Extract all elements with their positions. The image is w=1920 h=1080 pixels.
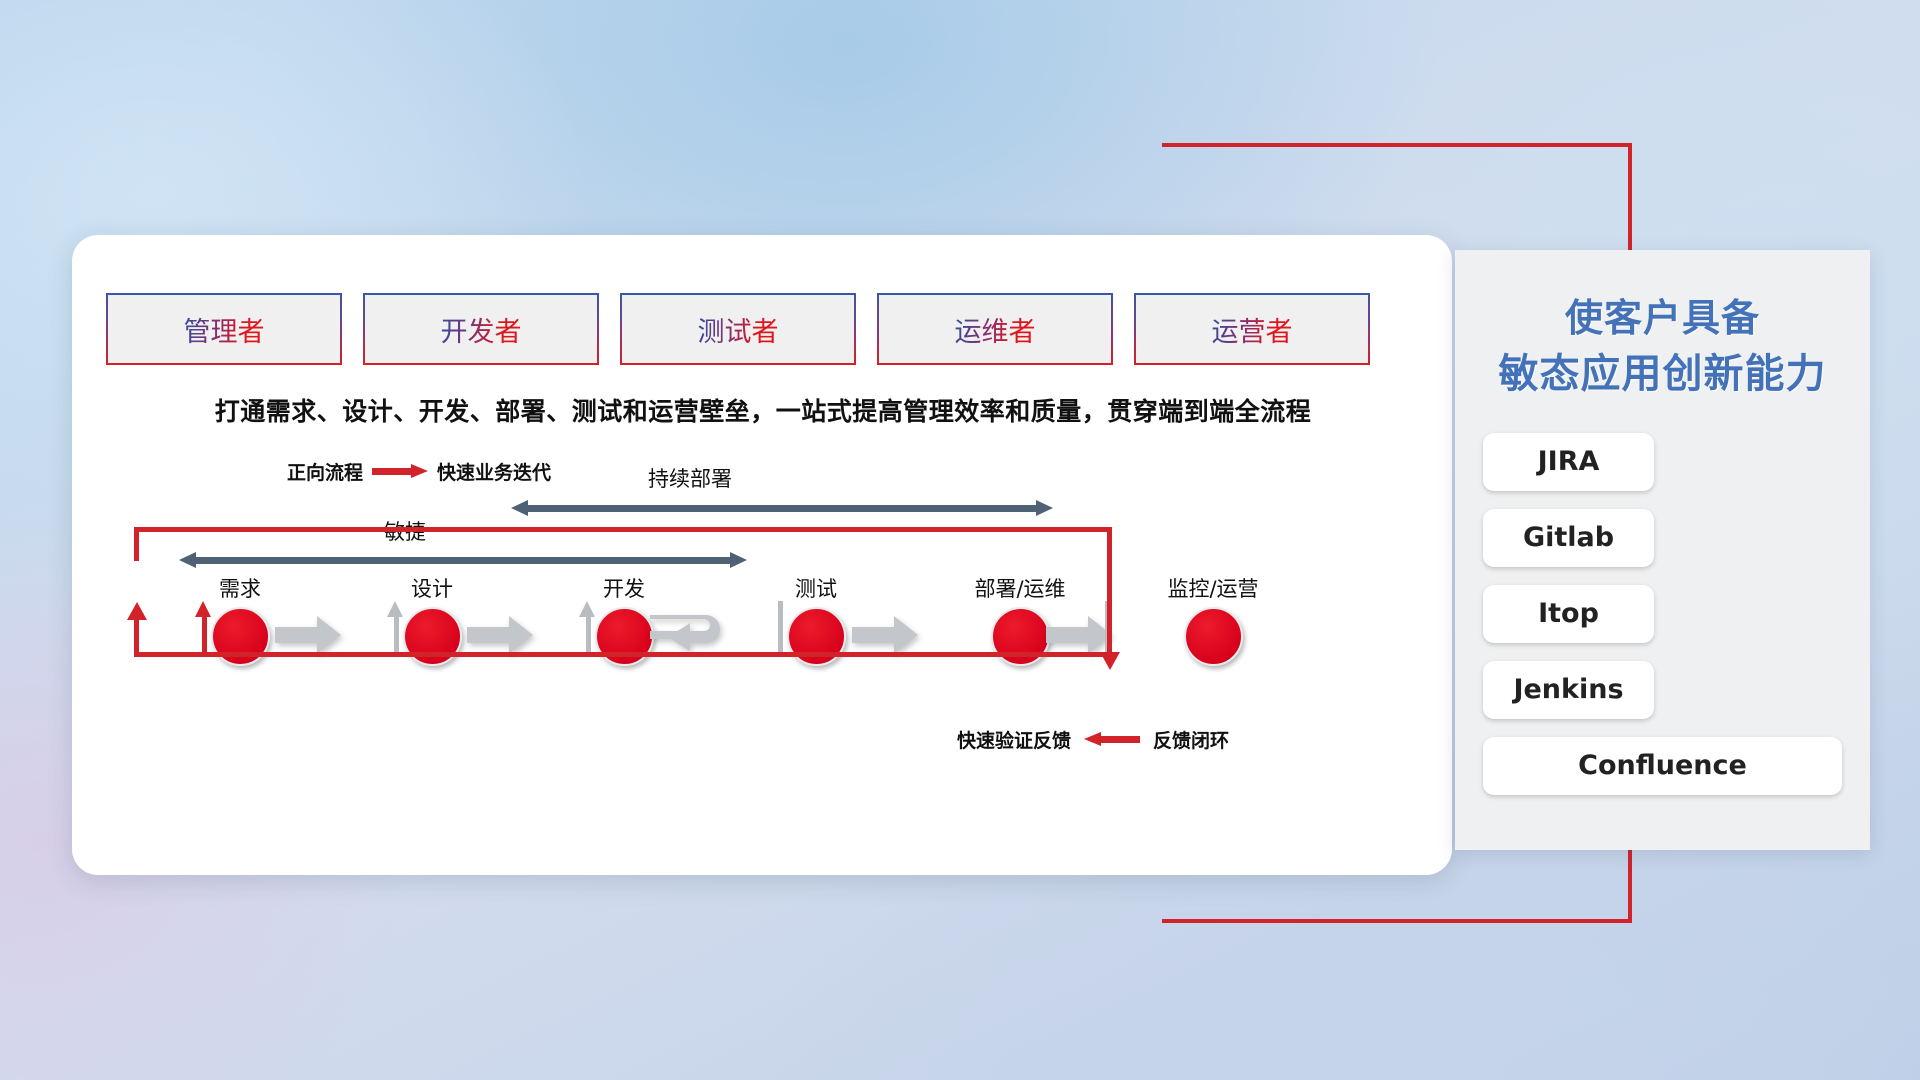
legend-feedback-loop: 快速验证反馈 反馈闭环 xyxy=(957,726,1229,753)
role-label: 开发者 xyxy=(441,310,522,349)
stage-monitor-operate[interactable]: 监控/运营 xyxy=(1133,573,1293,666)
tool-chip-jenkins[interactable]: Jenkins xyxy=(1483,661,1654,719)
feedback-loop-arrowhead-down-icon xyxy=(1100,652,1120,670)
legend-forward-flow: 正向流程 快速业务迭代 xyxy=(287,458,551,485)
arrow-requirement-to-design-icon xyxy=(275,616,341,654)
feedback-loop-left-top-segment xyxy=(134,527,139,561)
stage-node-dot xyxy=(991,607,1050,666)
role-label: 测试者 xyxy=(698,310,779,349)
riser-requirement xyxy=(202,617,207,657)
panel-title-line2: 敏态应用创新能力 xyxy=(1483,346,1842,403)
capability-panel: 使客户具备 敏态应用创新能力 JIRA Gitlab Itop Jenkins … xyxy=(1455,250,1870,850)
role-box-ops[interactable]: 运维者 xyxy=(879,295,1111,363)
riser-design xyxy=(394,617,399,657)
role-label: 运维者 xyxy=(955,310,1036,349)
continuous-deployment-double-arrow-icon xyxy=(511,500,1053,516)
stage-label: 开发 xyxy=(554,573,694,603)
devops-card: 管理者 开发者 测试者 运维者 运营者 打通需求、设计、开发、部署、测试和运营壁… xyxy=(72,235,1452,875)
feedback-loop-left-bottom-segment xyxy=(134,620,139,657)
stage-label: 测试 xyxy=(746,573,886,603)
panel-title-line1: 使客户具备 xyxy=(1483,292,1842,346)
stage-label: 部署/运维 xyxy=(940,573,1100,603)
riser-head-development-icon xyxy=(579,601,595,617)
role-box-developer[interactable]: 开发者 xyxy=(365,295,597,363)
stage-node-dot xyxy=(211,607,270,666)
continuous-deployment-label: 持续部署 xyxy=(648,463,732,493)
panel-title: 使客户具备 敏态应用创新能力 xyxy=(1483,292,1842,403)
tool-chip-gitlab[interactable]: Gitlab xyxy=(1483,509,1654,567)
legend-feedback-source: 快速验证反馈 xyxy=(957,726,1071,753)
role-box-row: 管理者 开发者 测试者 运维者 运营者 xyxy=(108,295,1368,363)
tool-chip-grid: JIRA Gitlab Itop Jenkins Confluence xyxy=(1483,433,1842,795)
stage-node-dot xyxy=(595,607,654,666)
pipeline-row: 需求 设计 开发 xyxy=(108,573,1418,713)
stage-node-dot xyxy=(403,607,462,666)
legend-forward-target: 快速业务迭代 xyxy=(437,458,551,485)
stage-label: 需求 xyxy=(170,573,310,603)
role-label: 管理者 xyxy=(184,310,265,349)
role-box-tester[interactable]: 测试者 xyxy=(622,295,854,363)
feedback-loop-right-segment xyxy=(1107,527,1112,657)
role-box-operator[interactable]: 运营者 xyxy=(1136,295,1368,363)
headline-text: 打通需求、设计、开发、部署、测试和运营壁垒，一站式提高管理效率和质量，贯穿端到端… xyxy=(108,392,1418,428)
riser-head-requirement-icon xyxy=(195,601,211,617)
legend-feedback-target: 反馈闭环 xyxy=(1153,726,1229,753)
arrow-deploy-to-monitor-icon xyxy=(1046,616,1112,654)
riser-head-design-icon xyxy=(387,601,403,617)
tool-chip-confluence[interactable]: Confluence xyxy=(1483,737,1842,795)
agile-double-arrow-icon xyxy=(179,552,747,568)
stage-label: 监控/运营 xyxy=(1133,573,1293,603)
riser-testing xyxy=(778,601,783,657)
tool-chip-jira[interactable]: JIRA xyxy=(1483,433,1654,491)
arrow-design-to-development-icon xyxy=(467,616,533,654)
role-label: 运营者 xyxy=(1212,310,1293,349)
feedback-loop-top-segment xyxy=(134,527,1112,532)
riser-development xyxy=(586,617,591,657)
stage-node-dot xyxy=(787,607,846,666)
role-box-manager[interactable]: 管理者 xyxy=(108,295,340,363)
stage-label: 设计 xyxy=(362,573,502,603)
stage-node-dot xyxy=(1184,607,1243,666)
feedback-loop-bottom-segment xyxy=(134,652,1112,657)
feedback-loop-arrowhead-up-icon xyxy=(127,602,147,620)
arrow-left-red-icon xyxy=(1084,732,1140,747)
arrow-testing-to-deploy-icon xyxy=(852,616,918,654)
legend-forward-source: 正向流程 xyxy=(287,458,363,485)
tool-chip-itop[interactable]: Itop xyxy=(1483,585,1654,643)
slide-canvas: 管理者 开发者 测试者 运维者 运营者 打通需求、设计、开发、部署、测试和运营壁… xyxy=(0,0,1920,1080)
arrow-right-red-icon xyxy=(372,464,428,479)
